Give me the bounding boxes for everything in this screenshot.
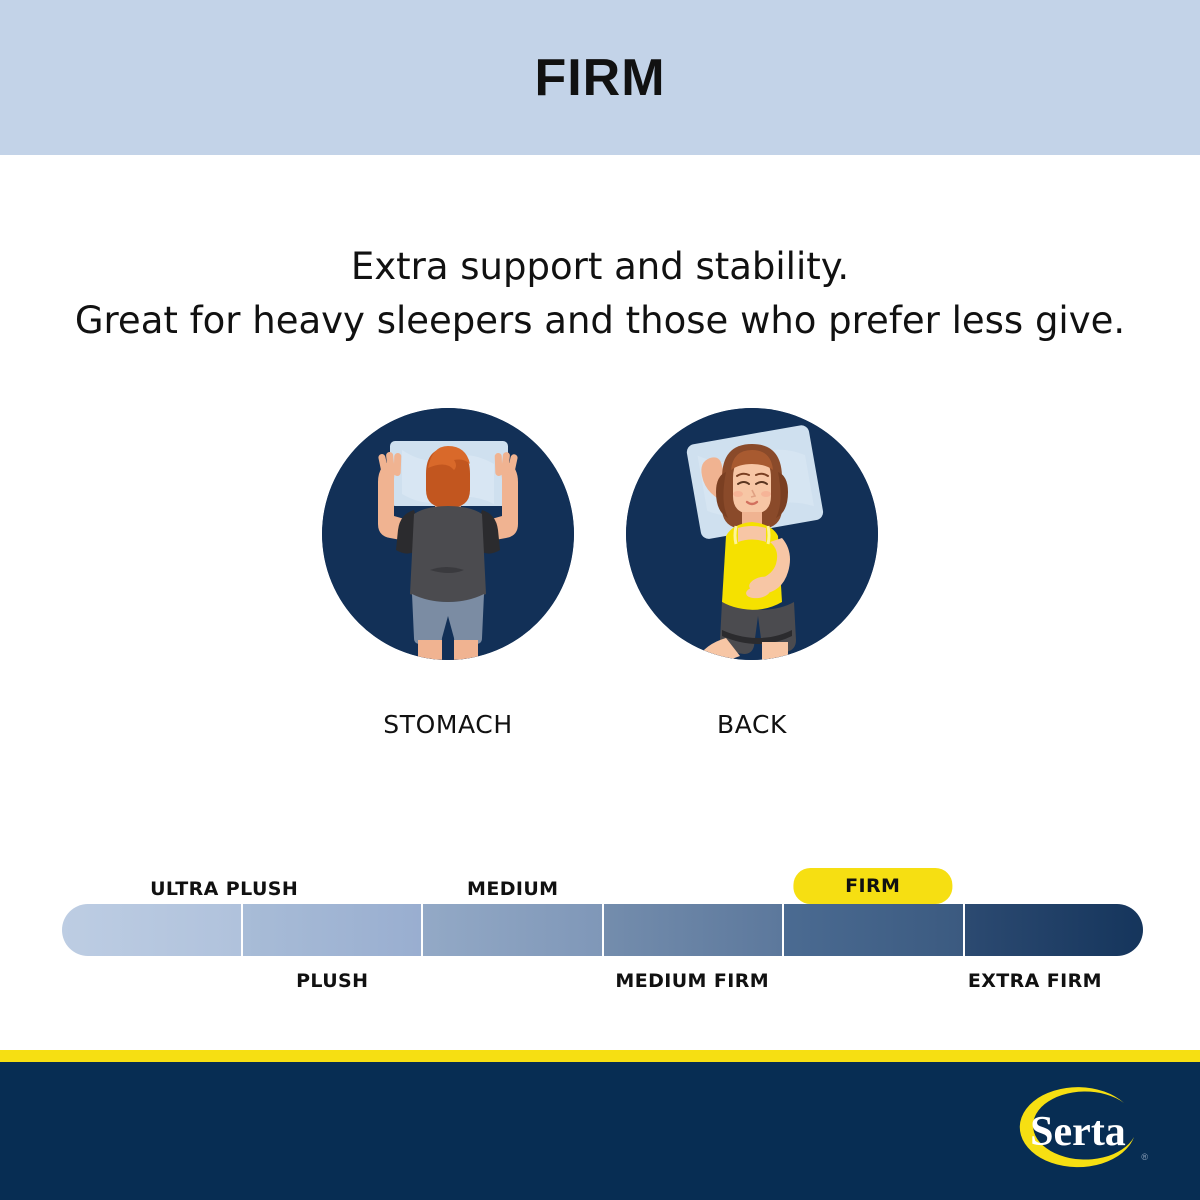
scale-segment-medium-firm[interactable]: [602, 904, 783, 956]
serta-logo-mark: Serta: [1006, 1083, 1154, 1179]
firmness-scale-bar[interactable]: [62, 904, 1143, 956]
subtitle-line-2: Great for heavy sleepers and those who p…: [0, 294, 1200, 348]
sleep-position-label-back: BACK: [717, 710, 787, 739]
sleep-position-label-stomach: STOMACH: [383, 710, 513, 739]
firmness-scale-top-labels: ULTRA PLUSH MEDIUM FIRM: [62, 862, 1143, 904]
scale-segment-firm[interactable]: [782, 904, 963, 956]
firmness-infographic: FIRM Extra support and stability. Great …: [0, 0, 1200, 1200]
sleep-position-card-stomach: STOMACH: [322, 408, 574, 739]
scale-label-ultra-plush: ULTRA PLUSH: [150, 878, 298, 900]
firmness-scale-bottom-labels: PLUSH MEDIUM FIRM EXTRA FIRM: [62, 968, 1143, 1008]
footer-accent-stripe: [0, 1050, 1200, 1062]
sleep-positions: STOMACH: [0, 408, 1200, 739]
stomach-sleeper-illustration: [322, 408, 574, 660]
sleep-position-card-back: BACK: [626, 408, 878, 739]
serta-wordmark: Serta: [1030, 1109, 1126, 1155]
scale-segment-medium[interactable]: [421, 904, 602, 956]
scale-label-plush: PLUSH: [296, 970, 368, 992]
registered-trademark-symbol: ®: [1141, 1152, 1148, 1162]
firmness-scale: ULTRA PLUSH MEDIUM FIRM PLUSH MEDIUM FIR…: [62, 862, 1143, 1012]
scale-segment-plush[interactable]: [241, 904, 422, 956]
back-sleeper-icon: [626, 408, 878, 660]
subtitle-line-1: Extra support and stability.: [0, 240, 1200, 294]
page-title: FIRM: [534, 48, 665, 108]
scale-segment-extra-firm[interactable]: [963, 904, 1144, 956]
serta-logo: Serta: [1006, 1083, 1154, 1179]
subtitle: Extra support and stability. Great for h…: [0, 240, 1200, 347]
back-sleeper-illustration: [626, 408, 878, 660]
scale-label-firm-badge[interactable]: FIRM: [793, 868, 952, 904]
page-header: FIRM: [0, 0, 1200, 155]
stomach-sleeper-icon: [322, 408, 574, 660]
scale-segment-ultra-plush[interactable]: [62, 904, 241, 956]
scale-label-medium: MEDIUM: [467, 878, 558, 900]
scale-label-extra-firm: EXTRA FIRM: [968, 970, 1102, 992]
scale-label-medium-firm: MEDIUM FIRM: [615, 970, 769, 992]
